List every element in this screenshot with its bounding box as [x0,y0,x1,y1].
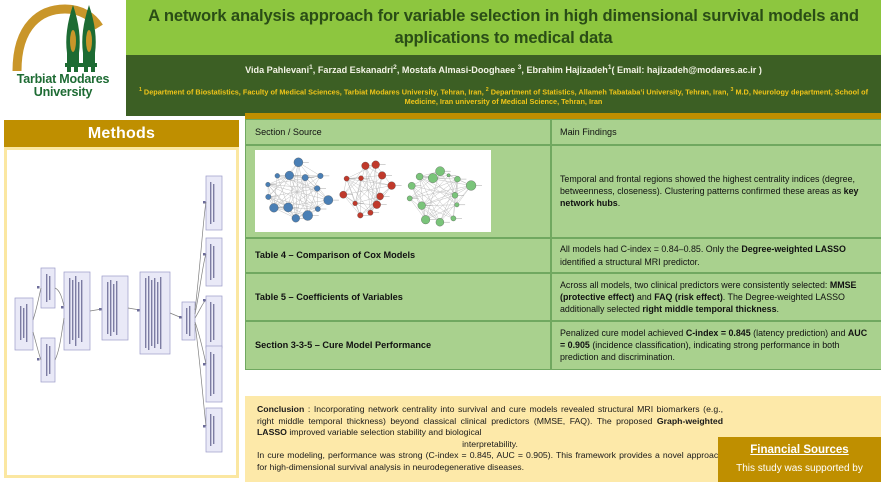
column-header-findings: Main Findings [551,120,881,145]
findings-table: Section / Source Main Findings Temporal … [245,119,881,370]
table-row: Section 3-3-5 – Cure Model PerformancePe… [246,321,881,369]
table-row: Temporal and frontal regions showed the … [246,145,881,238]
emphasis-text: Conclusion [257,404,304,414]
emphasis-text: FAQ (risk effect) [654,292,723,302]
authors-bar: Vida Pahlevani1, Farzad Eskanadri2, Most… [126,55,881,116]
financial-sources-box: Financial Sources This study was support… [718,437,881,482]
methods-body [4,147,239,478]
methods-flowchart-icon [7,150,236,475]
main-findings-cell: All models had C-index = 0.84–0.85. Only… [551,238,881,274]
main-findings-cell: Across all models, two clinical predicto… [551,273,881,321]
emphasis-text: Degree-weighted LASSO [741,244,846,254]
university-logo-text: Tarbiat Modares University [17,73,110,99]
table-header-row: Section / Source Main Findings [246,120,881,145]
network-graph-cell [246,145,551,238]
conclusion-interpretability-line: interpretability. [257,439,723,451]
university-logo-block: Tarbiat Modares University [0,0,126,116]
methods-title: Methods [88,125,155,143]
section-source-cell: Table 4 – Comparison of Cox Models [246,238,551,274]
table-row: Table 4 – Comparison of Cox ModelsAll mo… [246,238,881,274]
logo-line-2: University [17,86,110,99]
authors-line: Vida Pahlevani1, Farzad Eskanadri2, Most… [245,62,762,76]
brain-network-graph [255,150,491,232]
emphasis-text: C-index = 0.845 [686,328,751,338]
financial-sources-title: Financial Sources [718,443,881,457]
table-row: Table 5 – Coefficients of VariablesAcros… [246,273,881,321]
poster-header: Tarbiat Modares University A network ana… [0,0,881,116]
poster-canvas: Tarbiat Modares University A network ana… [0,0,881,482]
brain-network-graph-icon [255,150,491,232]
header-text-block: A network analysis approach for variable… [126,0,881,116]
conclusion-paragraph-2: In cure modeling, performance was strong… [257,450,723,473]
section-label: Section 3-3-5 – Cure Model Performance [255,340,431,350]
findings-table-body: Temporal and frontal regions showed the … [246,145,881,369]
section-source-cell: Table 5 – Coefficients of Variables [246,273,551,321]
main-findings-cell: Penalized cure model achieved C-index = … [551,321,881,369]
poster-title: A network analysis approach for variable… [136,5,871,49]
affiliations-line: 1 Department of Biostatistics, Faculty o… [126,86,881,106]
section-label: Table 5 – Coefficients of Variables [255,292,403,302]
university-logo-icon [7,1,119,73]
financial-sources-body: This study was supported by [718,462,881,475]
main-findings-cell: Temporal and frontal regions showed the … [551,145,881,238]
column-header-section: Section / Source [246,120,551,145]
title-bar: A network analysis approach for variable… [126,0,881,55]
methods-column: Methods [0,116,243,482]
emphasis-text: right middle temporal thickness [642,304,776,314]
methods-section-header: Methods [4,120,239,147]
conclusion-paragraph-1: Conclusion : Incorporating network centr… [257,404,723,439]
section-label: Table 4 – Comparison of Cox Models [255,250,415,260]
section-source-cell: Section 3-3-5 – Cure Model Performance [246,321,551,369]
